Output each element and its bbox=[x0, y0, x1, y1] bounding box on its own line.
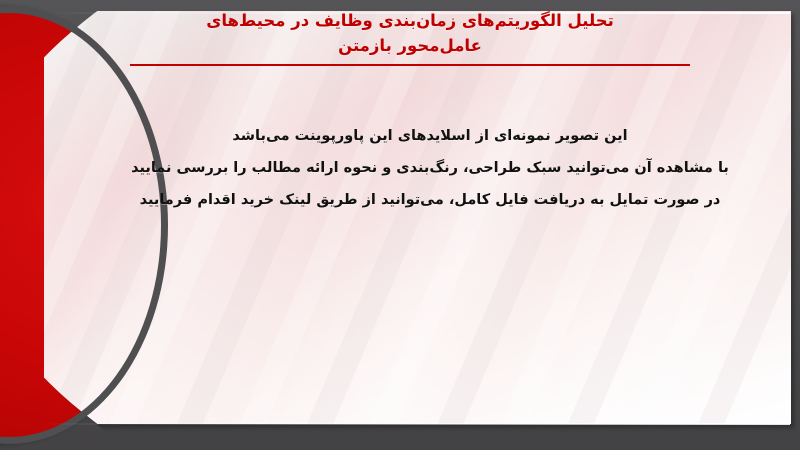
slide-title-line-2: عامل‌محور بازمتن bbox=[130, 33, 690, 58]
body-line-1: این تصویر نمونه‌ای از اسلایدهای این پاور… bbox=[120, 120, 740, 152]
slide-title: تحلیل الگوریتم‌های زمان‌بندی وظایف در مح… bbox=[130, 8, 690, 66]
slide-body: این تصویر نمونه‌ای از اسلایدهای این پاور… bbox=[120, 120, 740, 216]
title-underline-rule bbox=[130, 64, 690, 66]
slide-content: تحلیل الگوریتم‌های زمان‌بندی وظایف در مح… bbox=[0, 0, 800, 450]
body-line-2: با مشاهده آن می‌توانید سبک طراحی، رنگ‌بن… bbox=[120, 152, 740, 184]
body-line-3: در صورت تمایل به دریافت فایل کامل، می‌تو… bbox=[120, 184, 740, 216]
slide-title-line-1: تحلیل الگوریتم‌های زمان‌بندی وظایف در مح… bbox=[130, 8, 690, 33]
presentation-slide: تحلیل الگوریتم‌های زمان‌بندی وظایف در مح… bbox=[0, 0, 800, 450]
